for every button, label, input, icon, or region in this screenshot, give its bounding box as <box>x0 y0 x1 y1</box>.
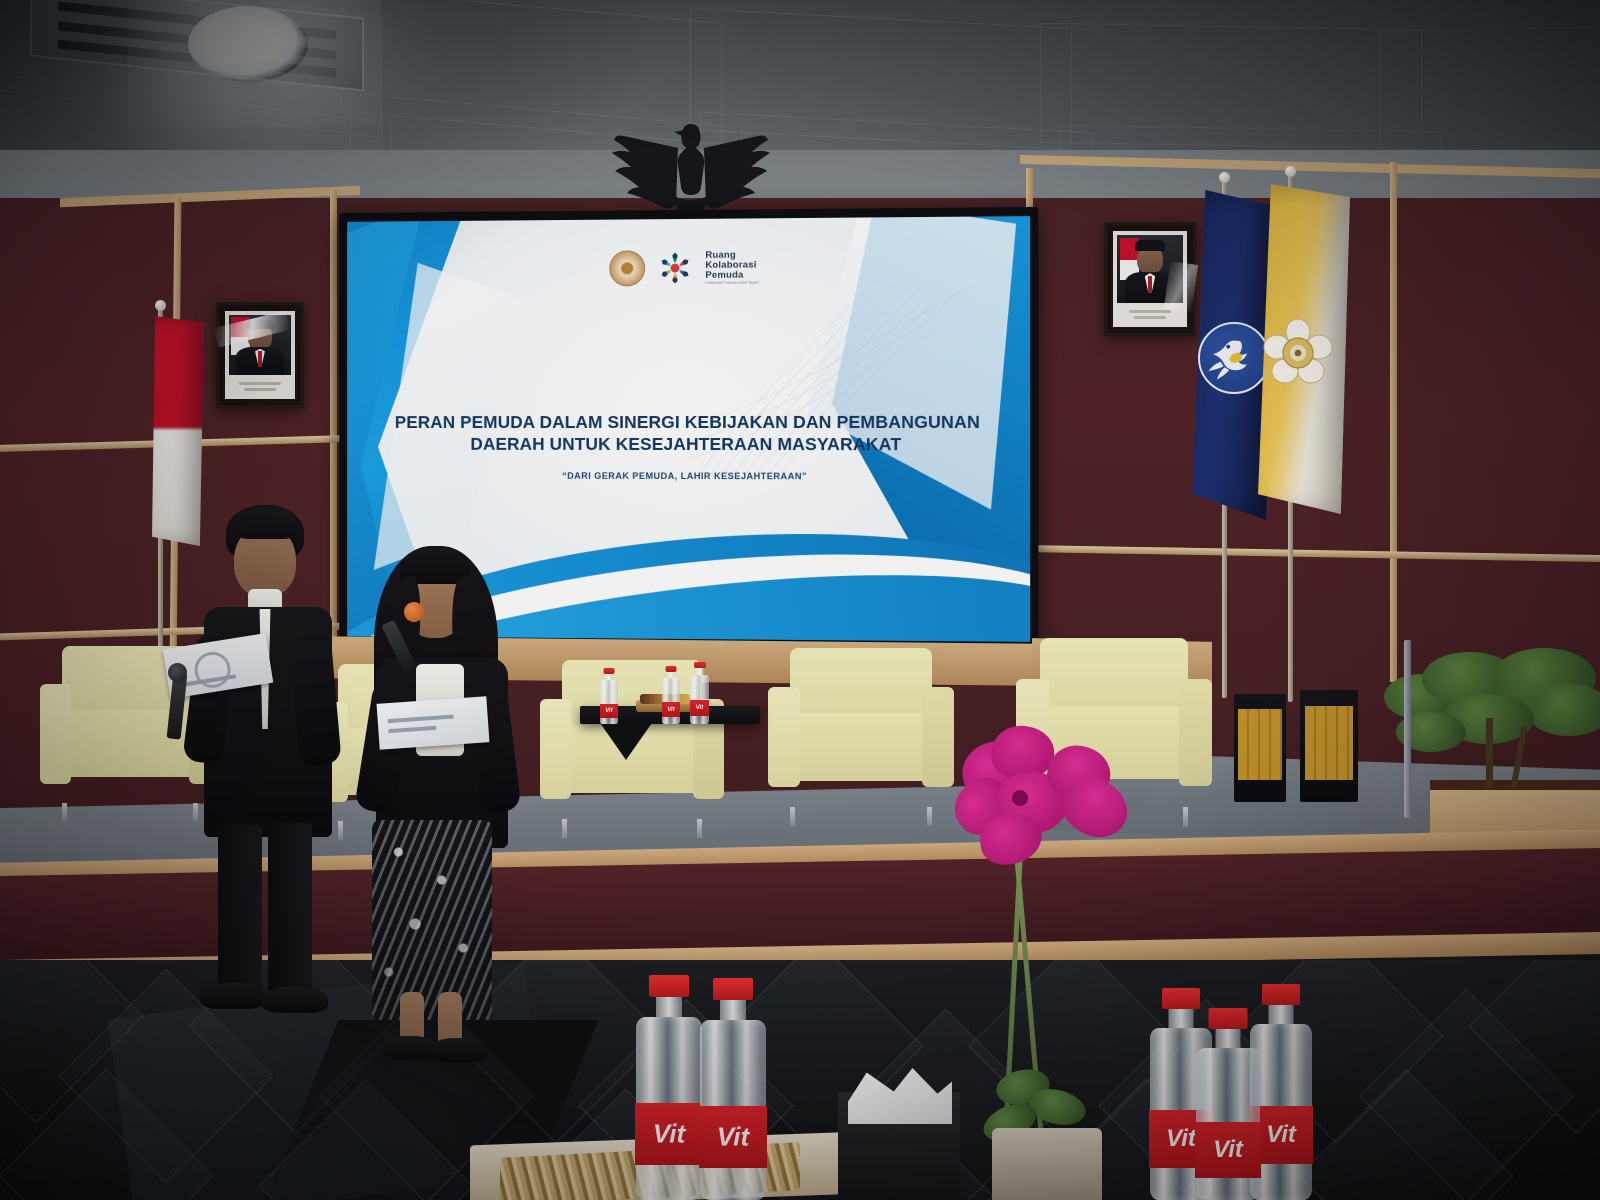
logo-line-3: Pemuda <box>705 270 758 280</box>
water-bottle-foreground-1: Vit <box>636 975 702 1200</box>
mc-male-shoe-left <box>200 983 266 1009</box>
trash-bin-right <box>1300 690 1358 802</box>
mc-female-mic-head-icon <box>404 602 424 622</box>
mc-female-script-papers <box>377 696 490 750</box>
flower-emblem <box>1262 318 1334 390</box>
logo-subline: Kolaborasi Pemuda Untuk Negeri <box>705 282 758 286</box>
slide-title: PERAN PEMUDA DALAM SINERGI KEBIJAKAN DAN… <box>380 412 995 455</box>
mc-male <box>170 505 350 1025</box>
orchid-pot <box>992 1128 1102 1200</box>
ruang-kolaborasi-pemuda-mark-icon <box>655 248 695 288</box>
water-bottle-table-3: Vit <box>690 662 709 724</box>
mc-female-shoe-left <box>384 1036 438 1060</box>
mc-female-batik-skirt <box>372 820 492 1020</box>
mc-male-mic-head-icon <box>168 663 187 682</box>
mc-male-leg-right <box>268 823 312 995</box>
trash-bin-left <box>1234 694 1286 802</box>
garuda-pancasila-emblem <box>606 118 776 220</box>
water-bottle-foreground-5: Vit <box>1196 1008 1260 1200</box>
president-portrait <box>216 302 304 408</box>
government-seal-logo <box>610 251 646 287</box>
photo-scene: Ruang Kolaborasi Pemuda Kolaborasi Pemud… <box>0 0 1600 1200</box>
water-bottle-table-1: Vit <box>600 668 618 724</box>
flagpole-tip-left <box>155 300 166 311</box>
magenta-orchid <box>952 718 1152 1198</box>
ruang-kolaborasi-pemuda-wordmark: Ruang Kolaborasi Pemuda Kolaborasi Pemud… <box>705 250 758 286</box>
vice-president-portrait <box>1104 222 1196 336</box>
dove-emblem <box>1198 322 1270 394</box>
slide-tagline: “DARI GERAK PEMUDA, LAHIR KESEJAHTERAAN” <box>400 471 974 482</box>
flagpole-far-right <box>1404 640 1411 818</box>
slide-title-line-1: PERAN PEMUDA DALAM SINERGI KEBIJAKAN DAN… <box>380 412 995 434</box>
mc-female <box>350 540 530 1050</box>
water-bottle-table-2: Vit <box>662 666 680 724</box>
mc-female-shoe-right <box>432 1038 486 1062</box>
mc-male-leg-left <box>218 825 262 995</box>
slide-title-line-2: DAERAH UNTUK KESEJAHTERAAN MASYARAKAT <box>380 433 995 455</box>
mc-male-shoe-right <box>262 987 328 1013</box>
flagpole-tip-gold <box>1285 166 1296 177</box>
sofa-center-right <box>768 648 954 810</box>
flagpole-tip-blue <box>1219 172 1230 183</box>
slide-logo-row: Ruang Kolaborasi Pemuda Kolaborasi Pemud… <box>347 246 1030 290</box>
water-bottle-foreground-2: Vit <box>700 978 766 1200</box>
